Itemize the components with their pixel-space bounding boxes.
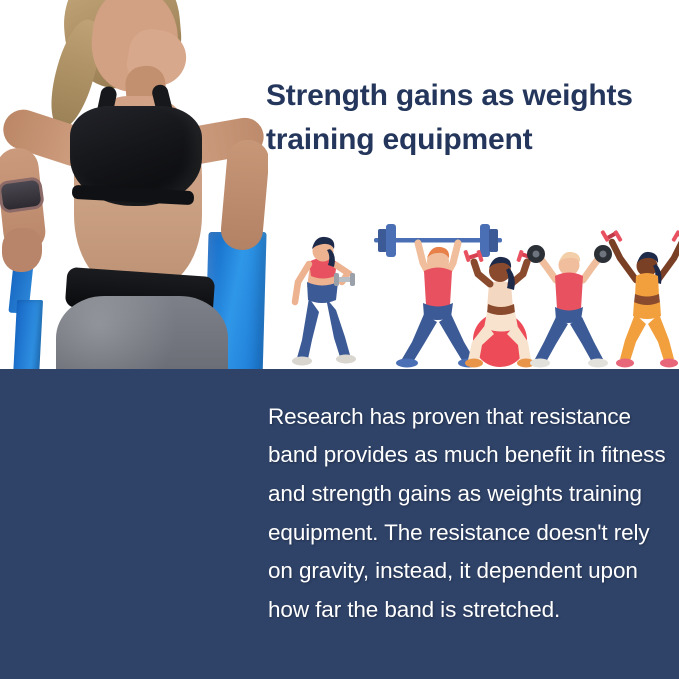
figure-woman-with-dumbbell (292, 237, 356, 366)
figure-woman-on-exercise-ball (463, 250, 537, 368)
dumbbell-right-raised (671, 230, 679, 242)
smartwatch (0, 179, 41, 210)
model-left-hand (2, 228, 42, 272)
fitness-figures-svg (278, 218, 679, 370)
page-title: Strength gains as weights training equip… (266, 74, 670, 163)
model-right-forearm (219, 138, 268, 251)
page-title-line-2: training equipment (266, 118, 670, 162)
page-title-line-1: Strength gains as weights (266, 79, 633, 112)
dumbbell-left-overhead (527, 245, 545, 263)
dumbbell-right-overhead (594, 245, 612, 263)
fitness-figures-illustration (278, 218, 679, 370)
figure-man-shoulder-press-dumbbells (527, 245, 612, 368)
figure-woman-arms-raised-dumbbells (600, 230, 679, 368)
infographic-root: Strength gains as weights training equip… (0, 0, 679, 679)
description-text: Research has proven that resistance band… (268, 398, 676, 630)
